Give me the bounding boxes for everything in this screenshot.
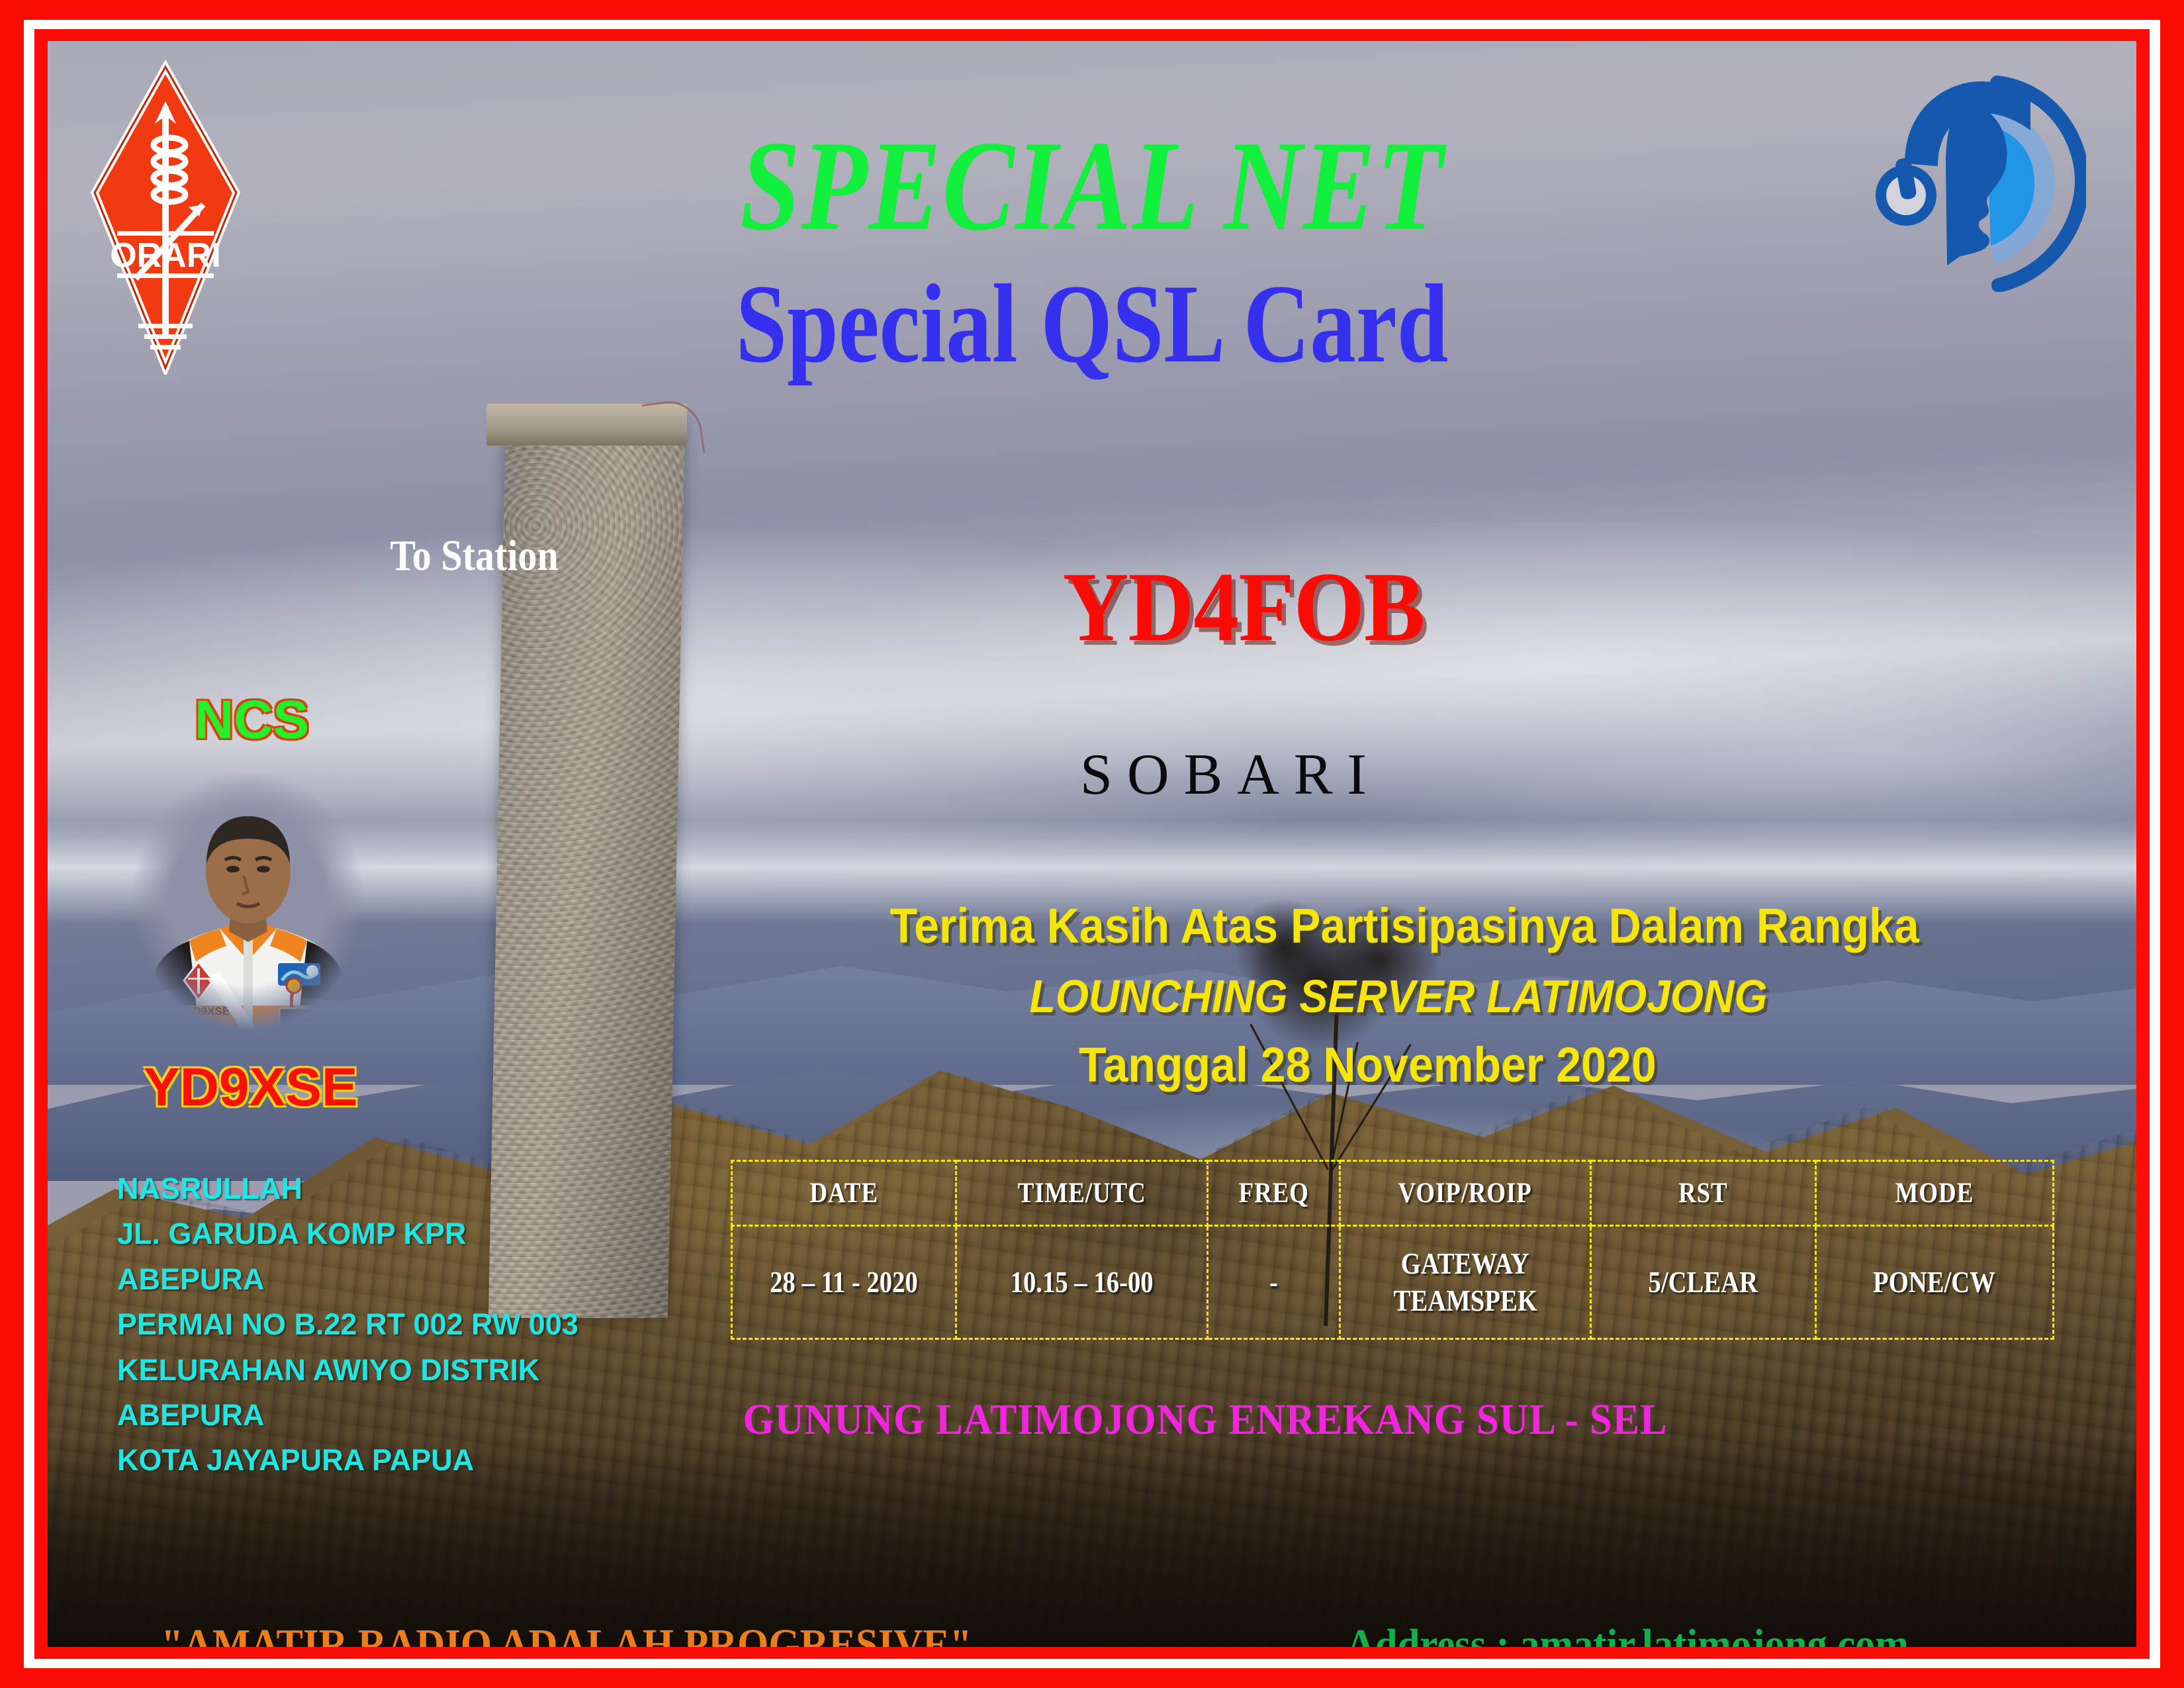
thanks-line-text: Terima Kasih Atas Partisipasinya Dalam R… [890, 902, 1919, 951]
address-line: PERMAI NO B.22 RT 002 RW 003 [117, 1302, 578, 1347]
column-header-rst: RST [1591, 1161, 1815, 1226]
background-photo-mountain-summit: ORARI [48, 41, 2136, 1647]
qso-log-table: DATE TIME/UTC FREQ VOIP/ROIP RST MODE 28… [731, 1160, 2054, 1340]
address-line: NASRULLAH [117, 1166, 578, 1211]
station-callsign-text: YD4FOB [1063, 557, 1424, 657]
to-station-text: To Station [390, 534, 558, 578]
footer-motto: "AMATIR RADIO ADALAH PROGRESIVE" [126, 1623, 1007, 1647]
shirt-callsign-text: YD9XSE [185, 1005, 230, 1017]
event-line-text: LOUNCHING SERVER LATIMOJONG [1029, 973, 1767, 1019]
table-row: 28 – 11 - 2020 10.15 – 16-00 - GATEWAY T… [732, 1226, 2054, 1339]
page-subtitle: Special QSL Card [657, 267, 1526, 380]
page-title: SPECIAL NET [673, 122, 1511, 251]
cell-mode: PONE/CW [1815, 1226, 2054, 1339]
table-header-row: DATE TIME/UTC FREQ VOIP/ROIP RST MODE [732, 1161, 2054, 1226]
orari-logo-text: ORARI [110, 236, 221, 275]
location-line-text: GUNUNG LATIMOJONG ENREKANG SUL - SEL [743, 1398, 1668, 1442]
operator-name: SOBARI [1080, 746, 1381, 804]
footer-motto-text: "AMATIR RADIO ADALAH PROGRESIVE" [161, 1623, 972, 1647]
operator-photo: YD9XSE [120, 773, 375, 1037]
footer-website-text: Address : amatir.latimojong.com [1346, 1623, 1909, 1647]
thanks-line: Terima Kasih Atas Partisipasinya Dalam R… [845, 902, 1964, 951]
footer-website: Address : amatir.latimojong.com [1322, 1623, 1933, 1647]
cell-date: 28 – 11 - 2020 [732, 1226, 956, 1339]
location-line: GUNUNG LATIMOJONG ENREKANG SUL - SEL [703, 1398, 1707, 1442]
column-header-time: TIME/UTC [956, 1161, 1207, 1226]
address-line: ABEPURA [117, 1257, 578, 1302]
station-callsign: YD4FOB [1047, 557, 1440, 657]
mailing-address-block: NASRULLAH JL. GARUDA KOMP KPR ABEPURA PE… [117, 1166, 578, 1483]
cell-rst: 5/CLEAR [1591, 1226, 1815, 1339]
to-station-label: To Station [379, 534, 570, 578]
address-line: ABEPURA [117, 1393, 578, 1438]
cell-time: 10.15 – 16-00 [956, 1226, 1207, 1339]
column-header-voip-roip: VOIP/ROIP [1340, 1161, 1590, 1226]
column-header-date: DATE [732, 1161, 956, 1226]
page-subtitle-text: Special QSL Card [736, 267, 1449, 380]
address-line: KOTA JAYAPURA PAPUA [117, 1438, 578, 1483]
ncs-callsign: YD9XSE [144, 1060, 358, 1115]
column-header-freq: FREQ [1207, 1161, 1340, 1226]
orari-logo: ORARI [89, 60, 242, 375]
ncs-label: NCS [195, 693, 309, 747]
address-line: JL. GARUDA KOMP KPR [117, 1211, 578, 1256]
cell-freq: - [1207, 1226, 1340, 1339]
event-line: LOUNCHING SERVER LATIMOJONG [997, 973, 1799, 1019]
qsl-card: ORARI [0, 0, 2184, 1688]
voip-headset-logo [1868, 67, 2086, 292]
event-date-line: Tanggal 28 November 2020 [1054, 1041, 1682, 1090]
event-date-text: Tanggal 28 November 2020 [1079, 1041, 1657, 1090]
page-title-text: SPECIAL NET [740, 122, 1444, 251]
cell-voip-roip: GATEWAY TEAMSPEK [1340, 1226, 1590, 1339]
column-header-mode: MODE [1815, 1161, 2054, 1226]
address-line: KELURAHAN AWIYO DISTRIK [117, 1348, 578, 1393]
